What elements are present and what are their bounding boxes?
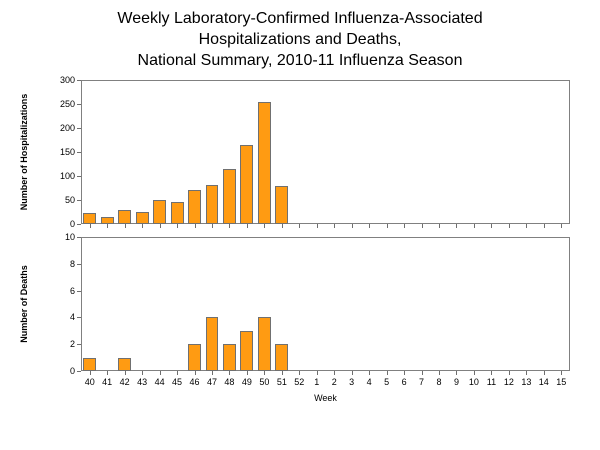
deaths-y-tick-mark [77,291,81,292]
hospitalizations-x-tick-mark [90,224,91,228]
hospitalizations-x-tick-mark [509,224,510,228]
hospitalizations-x-tick-mark [439,224,440,228]
deaths-x-tick-mark [177,371,178,375]
hospitalizations-bar [240,145,253,224]
deaths-x-tick-mark [142,371,143,375]
hospitalizations-y-tick-label: 100 [33,172,75,181]
hospitalizations-x-tick-mark [456,224,457,228]
deaths-y-tick-label: 4 [33,313,75,322]
deaths-y-tick-label: 0 [33,367,75,376]
hospitalizations-bar [83,213,96,224]
deaths-y-axis-title: Number of Deaths [19,217,29,391]
deaths-x-tick-mark [264,371,265,375]
hospitalizations-x-tick-mark [264,224,265,228]
deaths-bar [223,344,236,371]
hospitalizations-x-tick-mark [195,224,196,228]
deaths-x-tick-mark [195,371,196,375]
hospitalizations-x-tick-mark [229,224,230,228]
deaths-x-tick-mark [334,371,335,375]
hospitalizations-x-tick-mark [352,224,353,228]
deaths-x-tick-mark [212,371,213,375]
deaths-x-tick-mark [439,371,440,375]
deaths-x-tick-mark [125,371,126,375]
hospitalizations-bar [101,217,114,224]
deaths-y-tick-mark [77,317,81,318]
deaths-y-tick-mark [77,371,81,372]
deaths-y-tick-mark [77,237,81,238]
deaths-x-tick-mark [491,371,492,375]
hospitalizations-x-tick-mark [474,224,475,228]
hospitalizations-y-tick-mark [77,152,81,153]
hospitalizations-x-tick-mark [299,224,300,228]
hospitalizations-x-tick-mark [107,224,108,228]
deaths-x-tick-mark [229,371,230,375]
chart-title: Weekly Laboratory-Confirmed Influenza-As… [0,8,600,71]
chart-title-line-2: Hospitalizations and Deaths, [0,29,600,50]
hospitalizations-bar [188,190,201,224]
hospitalizations-y-tick-mark [77,80,81,81]
deaths-x-tick-mark [422,371,423,375]
hospitalizations-y-tick-label: 200 [33,124,75,133]
hospitalizations-y-tick-mark [77,176,81,177]
deaths-x-tick-mark [317,371,318,375]
deaths-x-tick-mark [456,371,457,375]
hospitalizations-y-tick-label: 50 [33,196,75,205]
deaths-x-tick-mark [369,371,370,375]
hospitalizations-x-tick-mark [387,224,388,228]
hospitalizations-x-tick-mark [369,224,370,228]
deaths-y-tick-mark [77,264,81,265]
chart-title-line-1: Weekly Laboratory-Confirmed Influenza-As… [0,8,600,29]
deaths-x-tick-mark [544,371,545,375]
deaths-x-tick-mark [509,371,510,375]
hospitalizations-bar [118,210,131,224]
hospitalizations-y-tick-mark [77,200,81,201]
hospitalizations-y-tick-label: 250 [33,100,75,109]
hospitalizations-y-tick-mark [77,104,81,105]
deaths-x-tick-mark [90,371,91,375]
deaths-y-tick-label: 6 [33,287,75,296]
hospitalizations-bar [206,185,219,224]
hospitalizations-bar [136,212,149,224]
hospitalizations-x-tick-mark [247,224,248,228]
hospitalizations-bar [223,169,236,224]
hospitalizations-x-tick-mark [544,224,545,228]
deaths-x-tick-mark [107,371,108,375]
hospitalizations-y-tick-label: 300 [33,76,75,85]
chart-title-line-3: National Summary, 2010-11 Influenza Seas… [0,50,600,71]
hospitalizations-x-tick-mark [160,224,161,228]
deaths-bar [118,358,131,371]
hospitalizations-x-tick-mark [317,224,318,228]
hospitalizations-x-tick-mark [422,224,423,228]
deaths-x-tick-mark [474,371,475,375]
deaths-x-tick-mark [561,371,562,375]
deaths-x-tick-mark [160,371,161,375]
deaths-bar [275,344,288,371]
hospitalizations-bar [275,186,288,224]
hospitalizations-y-tick-mark [77,224,81,225]
deaths-x-tick-mark [282,371,283,375]
deaths-x-tick-mark [247,371,248,375]
deaths-bar [240,331,253,371]
hospitalizations-x-tick-mark [334,224,335,228]
deaths-y-tick-label: 8 [33,260,75,269]
deaths-y-tick-label: 2 [33,340,75,349]
deaths-x-tick-mark [526,371,527,375]
hospitalizations-x-tick-mark [526,224,527,228]
deaths-bar [258,317,271,371]
hospitalizations-bar [258,102,271,224]
hospitalizations-y-tick-label: 150 [33,148,75,157]
deaths-bar [83,358,96,371]
deaths-bar [206,317,219,371]
deaths-x-tick-mark [387,371,388,375]
deaths-bar [188,344,201,371]
x-tick-label: 15 [549,378,573,387]
hospitalizations-bar [153,200,166,224]
hospitalizations-y-tick-label: 0 [33,220,75,229]
hospitalizations-x-tick-mark [125,224,126,228]
deaths-y-tick-mark [77,344,81,345]
hospitalizations-x-tick-mark [212,224,213,228]
hospitalizations-x-tick-mark [404,224,405,228]
deaths-plot-area [81,237,570,371]
hospitalizations-x-tick-mark [142,224,143,228]
hospitalizations-x-tick-mark [561,224,562,228]
hospitalizations-x-tick-mark [282,224,283,228]
deaths-x-tick-mark [299,371,300,375]
deaths-x-tick-mark [404,371,405,375]
hospitalizations-bar [171,202,184,224]
x-axis-title: Week [26,393,600,403]
deaths-y-tick-label: 10 [33,233,75,242]
hospitalizations-y-tick-mark [77,128,81,129]
hospitalizations-x-tick-mark [177,224,178,228]
figure: Weekly Laboratory-Confirmed Influenza-As… [0,0,600,450]
deaths-x-tick-mark [352,371,353,375]
hospitalizations-x-tick-mark [491,224,492,228]
